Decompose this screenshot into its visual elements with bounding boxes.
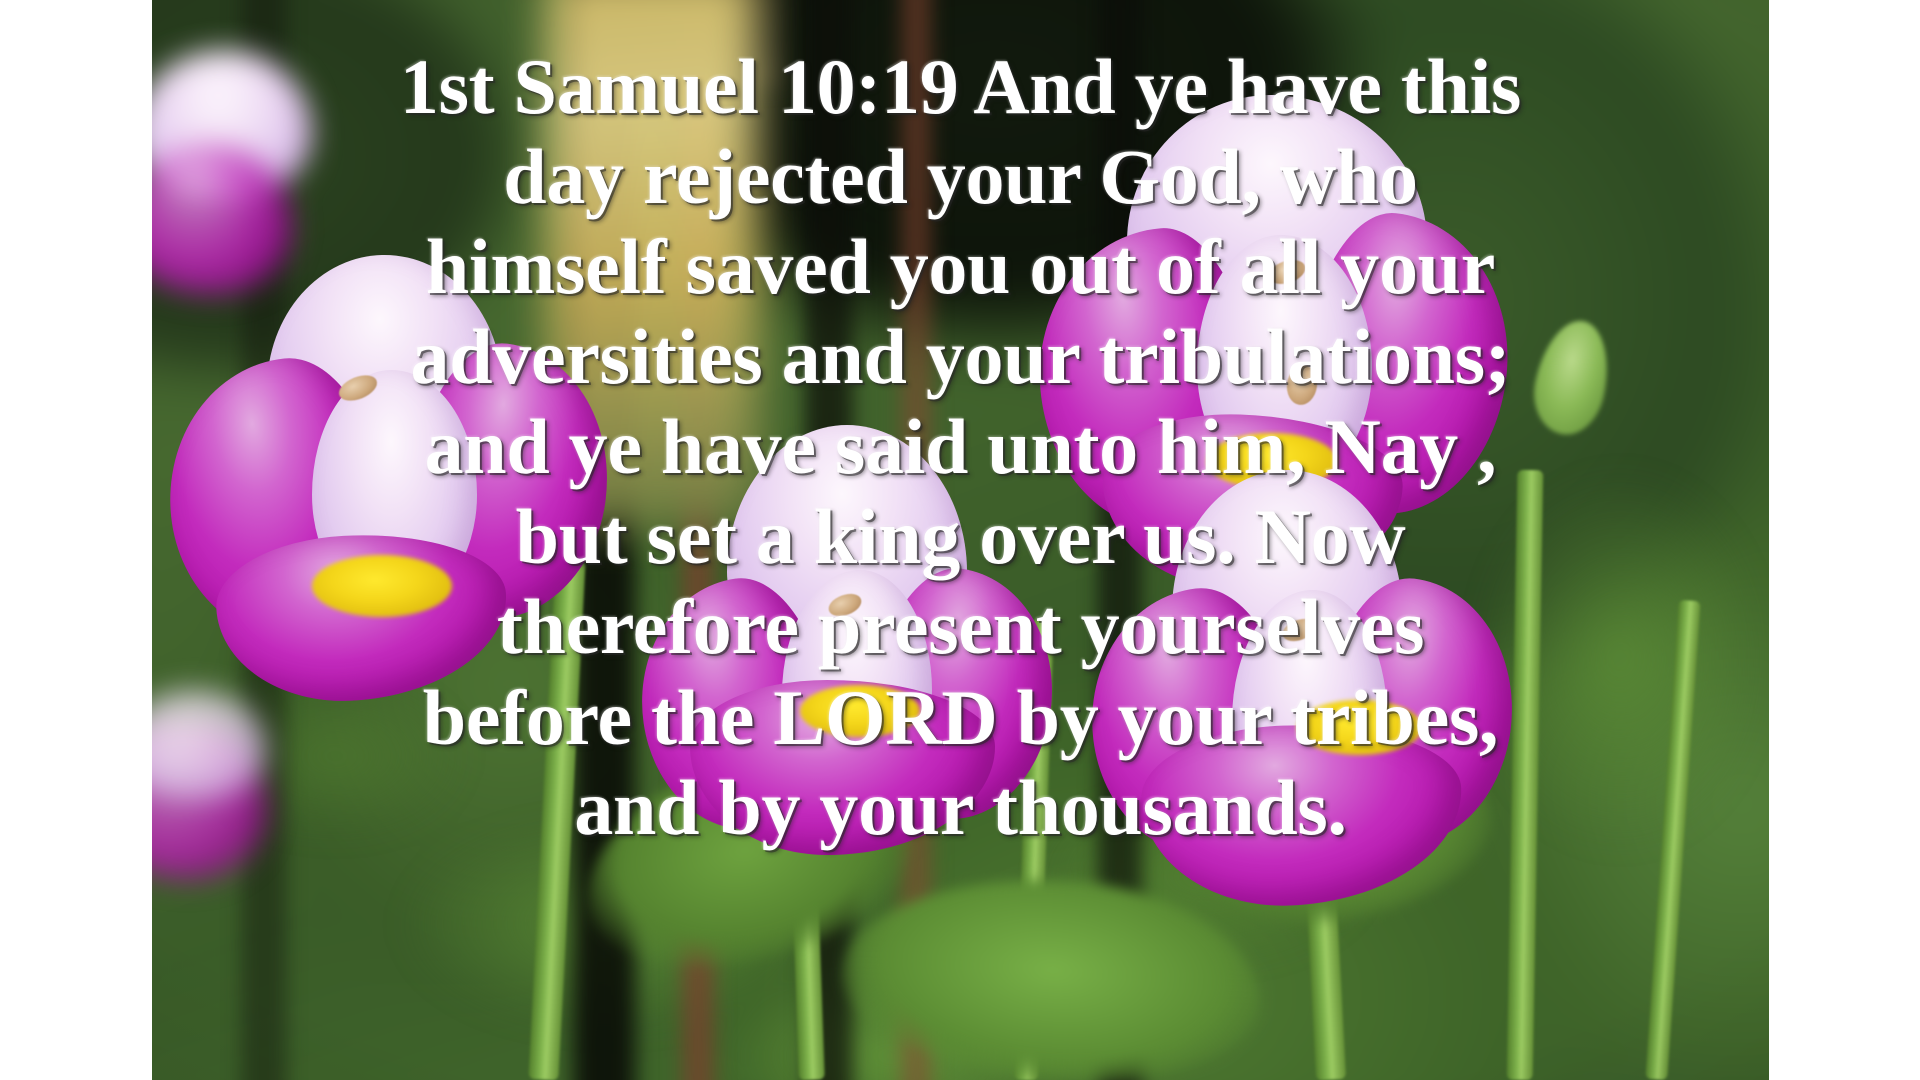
photo-vignette — [152, 0, 1769, 1080]
screenshot-canvas: 1st Samuel 10:19 And ye have this day re… — [0, 0, 1920, 1080]
flower-photo — [152, 0, 1769, 1080]
